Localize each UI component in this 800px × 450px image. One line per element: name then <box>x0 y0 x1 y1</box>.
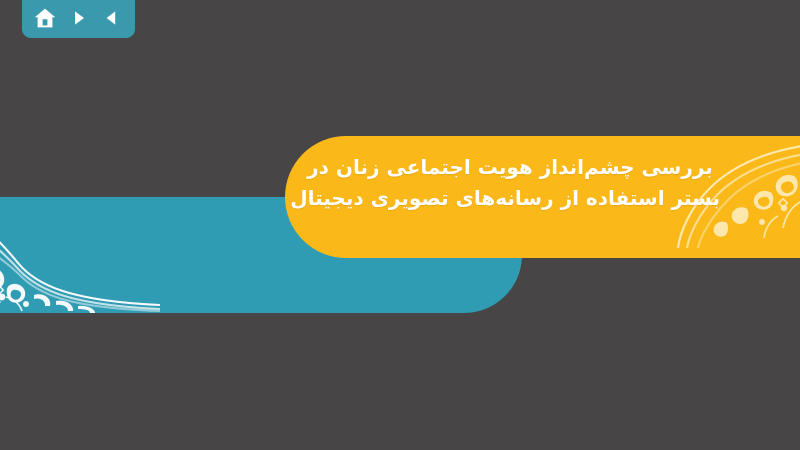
arabesque-corner-ornament <box>0 197 160 313</box>
navigation-bar <box>22 0 135 38</box>
previous-icon <box>102 8 122 28</box>
slide-title-line-1: بررسی چشم‌انداز هویت اجتماعی زنان در <box>300 152 720 183</box>
home-icon <box>33 6 57 30</box>
slide-title: بررسی چشم‌انداز هویت اجتماعی زنان در بست… <box>300 152 720 214</box>
presentation-slide: بررسی چشم‌انداز هویت اجتماعی زنان در بست… <box>0 0 800 450</box>
next-button[interactable] <box>66 5 92 31</box>
next-icon <box>69 8 89 28</box>
slide-title-line-2: بستر استفاده از رسانه‌های تصویری دیجیتال <box>300 183 720 214</box>
home-button[interactable] <box>32 5 58 31</box>
previous-button[interactable] <box>99 5 125 31</box>
